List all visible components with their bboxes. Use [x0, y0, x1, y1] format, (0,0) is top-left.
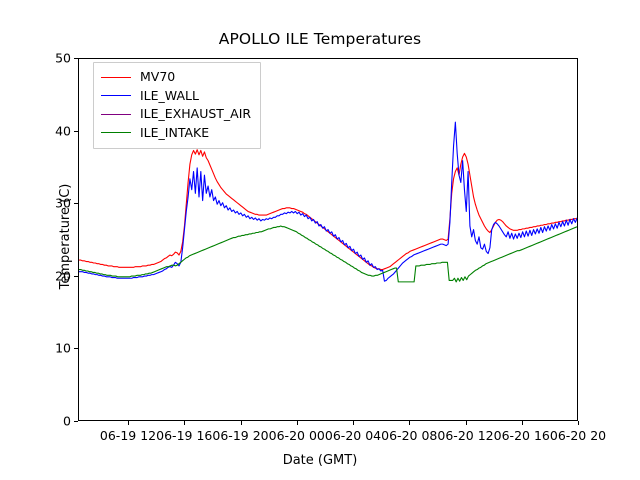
legend-item-ile_exhaust_air: ILE_EXHAUST_AIR — [101, 105, 251, 124]
x-tick-mark-7 — [522, 421, 523, 425]
y-tick-label-50: 50 — [0, 51, 78, 66]
legend-swatch-ile_exhaust_air — [101, 114, 131, 115]
x-tick-mark-6 — [466, 421, 467, 425]
x-tick-label-7: 06-20 16 — [494, 428, 550, 443]
x-tick-mark-2 — [241, 421, 242, 425]
x-axis-label: Date (GMT) — [0, 453, 640, 468]
x-tick-label-5: 06-20 08 — [381, 428, 437, 443]
x-tick-label-4: 06-20 04 — [325, 428, 381, 443]
x-tick-mark-8 — [578, 421, 579, 425]
x-tick-mark-1 — [184, 421, 185, 425]
legend-swatch-mv70 — [101, 77, 131, 78]
x-tick-mark-4 — [353, 421, 354, 425]
x-tick-mark-3 — [297, 421, 298, 425]
legend-item-mv70: MV70 — [101, 68, 251, 87]
legend-item-ile_intake: ILE_INTAKE — [101, 124, 251, 143]
y-axis-label: Temperature (C) — [58, 55, 73, 418]
x-tick-label-3: 06-20 00 — [269, 428, 325, 443]
x-tick-mark-5 — [409, 421, 410, 425]
legend-swatch-ile_wall — [101, 95, 131, 96]
legend-item-ile_wall: ILE_WALL — [101, 87, 251, 106]
legend-swatch-ile_intake — [101, 132, 131, 133]
x-tick-mark-0 — [128, 421, 129, 425]
figure-canvas: APOLLO ILE Temperatures Temperature (C) … — [0, 0, 640, 480]
x-tick-label-1: 06-19 16 — [156, 428, 212, 443]
x-tick-label-8: 06-20 20 — [550, 428, 606, 443]
legend-label-ile_wall: ILE_WALL — [140, 90, 199, 103]
x-tick-label-2: 06-19 20 — [212, 428, 268, 443]
y-tick-label-30: 30 — [0, 196, 78, 211]
series-line-ile_intake — [79, 226, 578, 282]
x-tick-label-0: 06-19 12 — [100, 428, 156, 443]
legend-label-ile_exhaust_air: ILE_EXHAUST_AIR — [140, 108, 251, 121]
y-tick-label-20: 20 — [0, 268, 78, 283]
y-tick-label-10: 10 — [0, 341, 78, 356]
legend-label-mv70: MV70 — [140, 71, 175, 84]
page-title: APOLLO ILE Temperatures — [0, 30, 640, 48]
legend: MV70ILE_WALLILE_EXHAUST_AIRILE_INTAKE — [93, 62, 261, 149]
legend-label-ile_intake: ILE_INTAKE — [140, 127, 209, 140]
y-tick-mark-0 — [74, 421, 78, 422]
x-tick-label-6: 06-20 12 — [437, 428, 493, 443]
y-tick-label-0: 0 — [0, 414, 78, 429]
y-tick-label-40: 40 — [0, 123, 78, 138]
